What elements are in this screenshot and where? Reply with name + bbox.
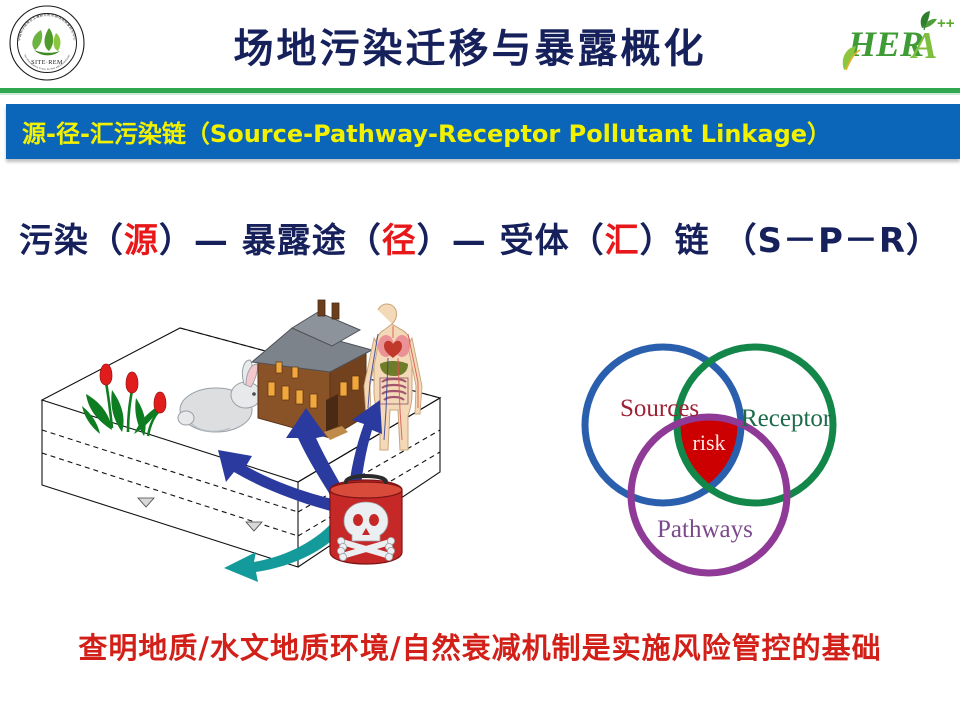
bottom-note: 查明地质/水文地质环境/自然衰减机制是实施风险管控的基础 — [0, 620, 960, 672]
spr-seg-pathway: 径 — [382, 213, 417, 262]
venn-label-sources: Sources — [620, 395, 699, 422]
spr-headline: 污染（源）— 暴露途（径）— 受体（汇）链 （S－P－R） — [0, 206, 960, 268]
svg-text:++: ++ — [937, 15, 955, 32]
header-divider — [0, 88, 960, 93]
source-pathway-receptor-venn: Sources Receptor Pathways risk — [545, 330, 865, 580]
spr-seg-0: 污染（ — [19, 213, 124, 262]
section-banner: 源-径-汇污染链（Source-Pathway-Receptor Polluta… — [6, 104, 960, 159]
spr-seg-receptor: 汇 — [605, 213, 640, 262]
toxic-drum — [330, 476, 402, 564]
page-title: 场地污染迁移与暴露概化 — [150, 14, 790, 76]
rabbit — [178, 360, 261, 432]
venn-label-pathways: Pathways — [657, 516, 753, 543]
spr-seg-source: 源 — [124, 213, 159, 262]
section-banner-text: 源-径-汇污染链（Source-Pathway-Receptor Polluta… — [6, 114, 831, 149]
hera-logo: HER A ++ — [838, 8, 956, 78]
tulips — [82, 364, 166, 436]
slide-root: 中国科学院南京土壤研究所污染场地修复研究中心 Site Remediation … — [0, 0, 960, 720]
spr-seg-2: ）— 暴露途（ — [159, 213, 382, 262]
spr-seg-4: ）— 受体（ — [417, 213, 605, 262]
site-conceptual-model — [30, 290, 480, 590]
slide-header: 中国科学院南京土壤研究所污染场地修复研究中心 Site Remediation … — [0, 0, 960, 88]
spr-seg-6: ）链 （S－P－R） — [640, 213, 941, 262]
venn-label-risk: risk — [693, 430, 726, 455]
venn-label-receptor: Receptor — [741, 405, 832, 432]
svg-text:A: A — [910, 25, 937, 67]
water-table-marker — [138, 498, 262, 531]
site-rem-logo: 中国科学院南京土壤研究所污染场地修复研究中心 Site Remediation … — [8, 4, 86, 82]
svg-text:SITE·REM: SITE·REM — [31, 59, 63, 66]
